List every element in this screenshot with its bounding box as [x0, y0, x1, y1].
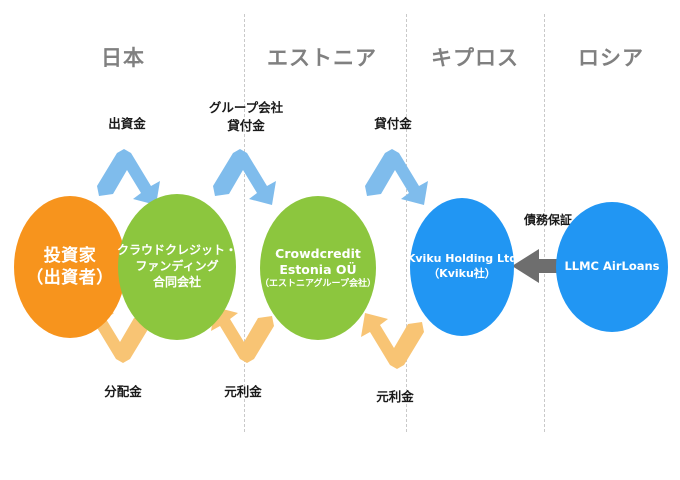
node-kviku[interactable]: Kviku Holding Ltd （Kviku社） [410, 198, 514, 336]
country-label-russia: ロシア [556, 42, 666, 72]
flow-label-kashitsukekin-line1: 貸付金 [374, 116, 412, 131]
node-kviku-line1: Kviku Holding Ltd [407, 252, 517, 267]
flow-label-ganrikin-2-line1: 元利金 [376, 389, 414, 404]
flow-label-toushikin-line1: 出資金 [108, 116, 146, 131]
arrow-ganrikin-2 [361, 313, 424, 369]
node-estonia-sub-note: （エストニアグループ会社） [260, 279, 376, 291]
flow-label-saimu-hosho-text: 債務保証 [524, 213, 572, 227]
country-label-cyprus: キプロス [412, 42, 538, 72]
flow-label-group-loan: グループ会社 貸付金 [200, 99, 292, 135]
node-investor[interactable]: 投資家 （出資者） [14, 196, 126, 338]
flow-label-toushikin: 出資金 [92, 115, 162, 133]
node-cc-funding-line2: ファンディング [135, 259, 218, 275]
node-estonia-sub-line2: Estonia OÜ [279, 262, 356, 279]
flow-label-ganrikin-1: 元利金 [208, 383, 278, 401]
node-cc-funding-line3: 合同会社 [153, 275, 201, 291]
arrow-kashitsukekin [365, 149, 428, 205]
divider-estonia-cyprus [406, 14, 407, 432]
node-investor-line1: 投資家 [44, 245, 97, 267]
flow-label-ganrikin-1-line1: 元利金 [224, 384, 262, 399]
flow-label-bunpaikin: 分配金 [88, 383, 158, 401]
arrow-toushikin [97, 149, 160, 205]
node-cc-funding[interactable]: クラウドクレジット・ ファンディング 合同会社 [118, 194, 236, 340]
flow-label-kashitsukekin: 貸付金 [358, 115, 428, 133]
node-cc-funding-line1: クラウドクレジット・ [117, 243, 237, 259]
country-label-estonia: エストニア [252, 42, 392, 72]
node-investor-line2: （出資者） [26, 267, 114, 289]
node-estonia-sub[interactable]: Crowdcredit Estonia OÜ （エストニアグループ会社） [260, 196, 376, 340]
divider-japan-estonia [244, 14, 245, 432]
diagram-canvas: 日本 エストニア キプロス ロシア 出資金 グループ会社 貸付金 貸付金 分配金… [0, 0, 680, 480]
flow-label-bunpaikin-line1: 分配金 [104, 384, 142, 399]
node-kviku-line2: （Kviku社） [428, 267, 496, 282]
node-estonia-sub-line1: Crowdcredit [275, 246, 361, 263]
node-llmc-line1: LLMC AirLoans [564, 259, 659, 274]
node-llmc[interactable]: LLMC AirLoans [556, 202, 668, 332]
country-label-japan: 日本 [78, 42, 168, 72]
flow-label-group-loan-line2: 貸付金 [227, 118, 265, 133]
flow-label-group-loan-line1: グループ会社 [209, 100, 283, 115]
flow-label-ganrikin-2: 元利金 [360, 388, 430, 406]
